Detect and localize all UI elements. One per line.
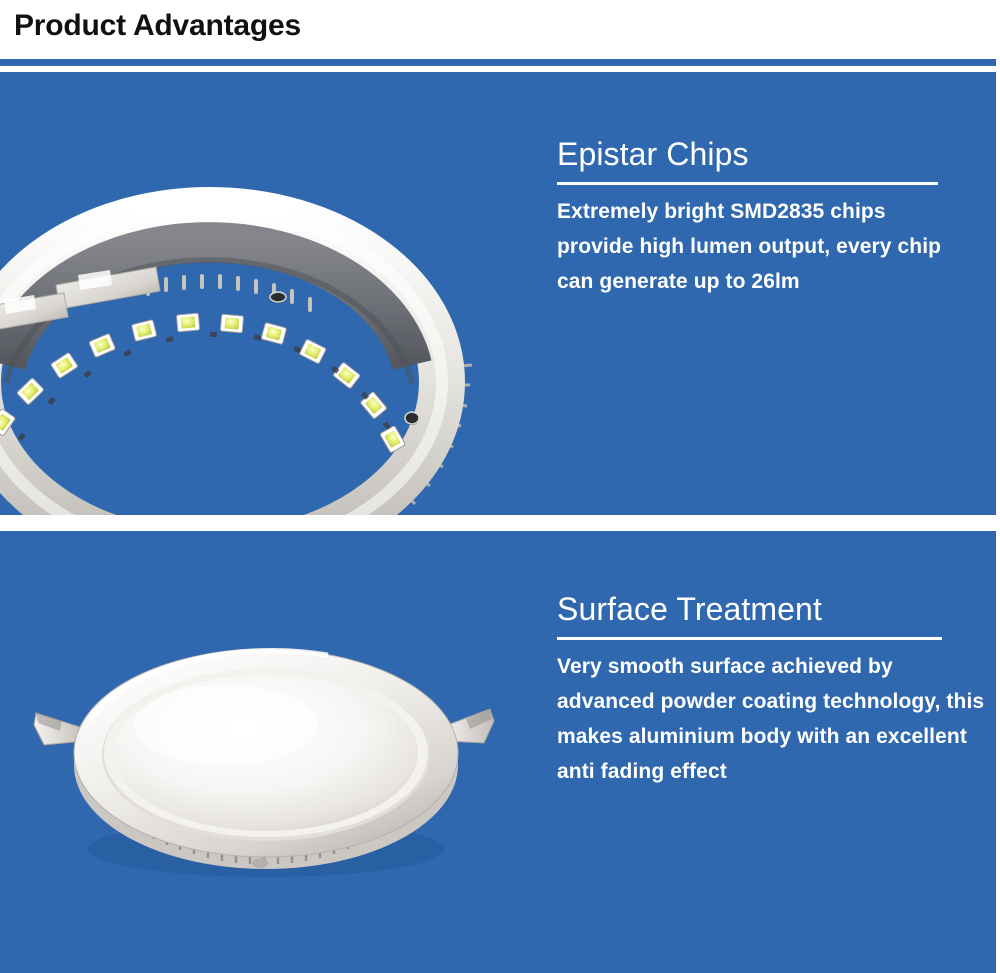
- feature-description: Very smooth surface achieved by advanced…: [557, 649, 989, 790]
- page-header: Product Advantages: [0, 0, 1000, 58]
- feature-title-rule: [557, 637, 942, 640]
- header-rule: [0, 59, 996, 66]
- feature-text-epistar-chips: Epistar Chips Extremely bright SMD2835 c…: [557, 138, 977, 299]
- feature-title-rule: [557, 182, 938, 185]
- feature-title: Epistar Chips: [557, 138, 977, 172]
- led-ring-image: [0, 167, 480, 515]
- product-advantages-page: Product Advantages: [0, 0, 1000, 973]
- page-title: Product Advantages: [14, 9, 301, 43]
- feature-text-surface-treatment: Surface Treatment Very smooth surface ac…: [557, 593, 977, 790]
- feature-panel-epistar-chips: Epistar Chips Extremely bright SMD2835 c…: [0, 72, 996, 515]
- round-panel-light-image: [28, 613, 498, 903]
- feature-panel-surface-treatment: Surface Treatment Very smooth surface ac…: [0, 531, 996, 973]
- panel-divider: [0, 515, 996, 531]
- feature-description: Extremely bright SMD2835 chips provide h…: [557, 194, 957, 300]
- feature-title: Surface Treatment: [557, 593, 977, 627]
